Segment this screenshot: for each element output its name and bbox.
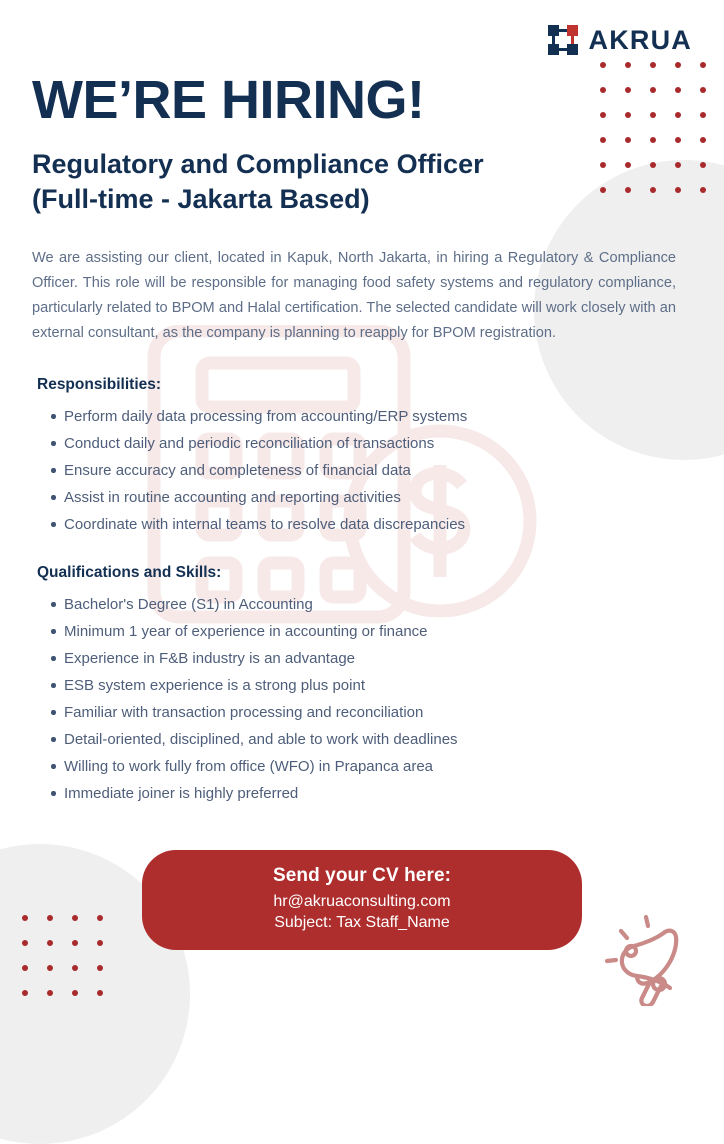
job-title-line2: (Full-time - Jakarta Based) (32, 182, 592, 218)
list-item: Familiar with transaction processing and… (32, 699, 692, 726)
responsibilities-title: Responsibilities: (32, 376, 692, 394)
intro-paragraph: We are assisting our client, located in … (32, 246, 676, 346)
megaphone-icon (604, 914, 700, 1006)
qualifications-list: Bachelor's Degree (S1) in Accounting Min… (32, 591, 692, 807)
list-item: ESB system experience is a strong plus p… (32, 672, 692, 699)
cta-subject: Subject: Tax Staff_Name (162, 913, 562, 933)
list-item: Immediate joiner is highly preferred (32, 780, 692, 807)
cta-email[interactable]: hr@akruaconsulting.com (162, 892, 562, 912)
list-item: Minimum 1 year of experience in accounti… (32, 618, 692, 645)
list-item: Assist in routine accounting and reporti… (32, 484, 692, 511)
qualifications-section: Qualifications and Skills: Bachelor's De… (32, 564, 692, 807)
list-item: Ensure accuracy and completeness of fina… (32, 457, 692, 484)
page-title: WE’RE HIRING! (32, 72, 692, 129)
responsibilities-list: Perform daily data processing from accou… (32, 403, 692, 538)
responsibilities-section: Responsibilities: Perform daily data pro… (32, 376, 692, 538)
list-item: Conduct daily and periodic reconciliatio… (32, 430, 692, 457)
akrua-logo: AKRUA (548, 25, 693, 55)
list-item: Coordinate with internal teams to resolv… (32, 511, 692, 538)
job-title: Regulatory and Compliance Officer (Full-… (32, 147, 592, 218)
send-cv-banner[interactable]: Send your CV here: hr@akruaconsulting.co… (142, 850, 582, 950)
cross-logo-icon (548, 25, 578, 55)
list-item: Willing to work fully from office (WFO) … (32, 753, 692, 780)
brand-header: AKRUA (32, 0, 692, 58)
list-item: Detail-oriented, disciplined, and able t… (32, 726, 692, 753)
list-item: Experience in F&B industry is an advanta… (32, 645, 692, 672)
list-item: Perform daily data processing from accou… (32, 403, 692, 430)
job-title-line1: Regulatory and Compliance Officer (32, 147, 592, 183)
list-item: Bachelor's Degree (S1) in Accounting (32, 591, 692, 618)
qualifications-title: Qualifications and Skills: (32, 564, 692, 582)
brand-wordmark: AKRUA (589, 27, 693, 54)
cta-title: Send your CV here: (162, 865, 562, 887)
